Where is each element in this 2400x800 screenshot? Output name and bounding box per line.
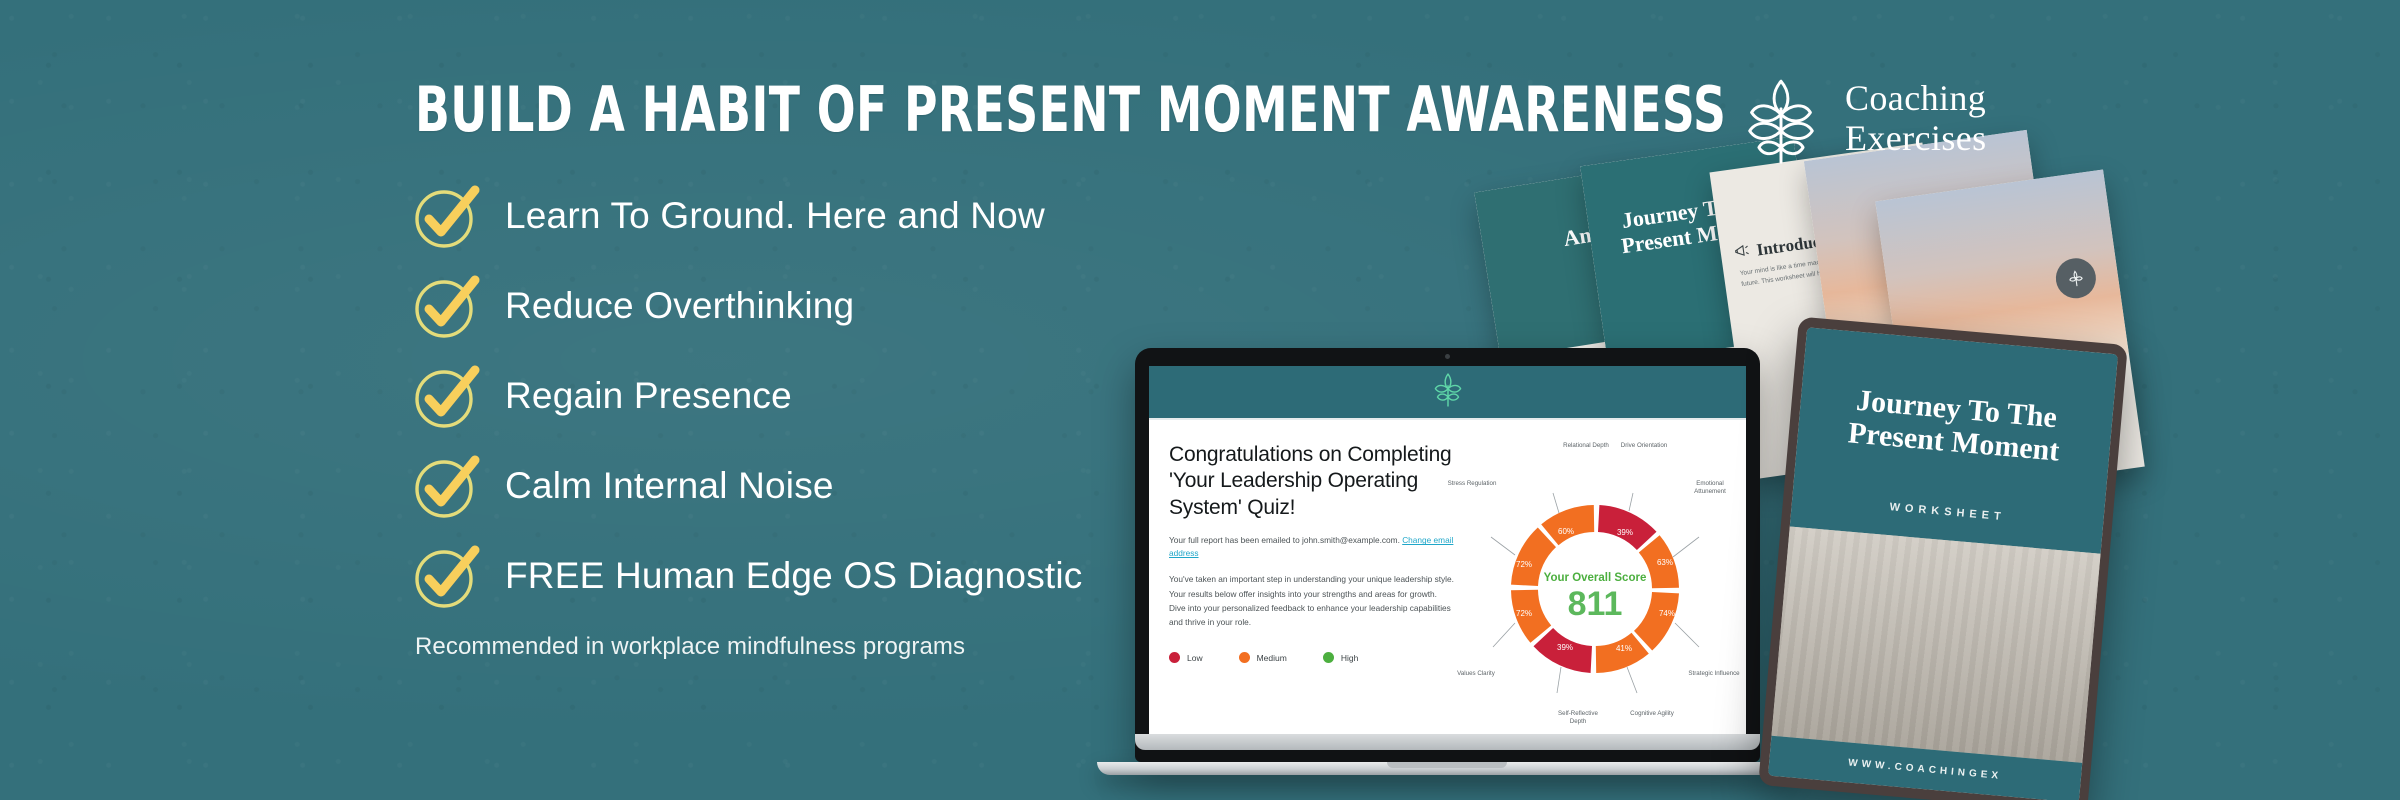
list-item-label: FREE Human Edge OS Diagnostic [505, 555, 1083, 597]
list-item: Regain Presence [415, 363, 1295, 429]
segment-label-drive-orientation: Drive Orientation [1616, 442, 1672, 450]
laptop-base [1097, 762, 1797, 775]
megaphone-icon [1734, 242, 1752, 263]
donut-segment-strategic-influence: 74% [1634, 592, 1679, 651]
segment-label-cognitive-agility: Cognitive Agility [1624, 710, 1680, 718]
results-chart-column: 39% 63% 74% [1464, 442, 1726, 720]
recommendation-note: Recommended in workplace mindfulness pro… [415, 633, 1295, 661]
lotus-icon [1735, 72, 1827, 164]
segment-label-relational-depth: Relational Depth [1558, 442, 1614, 450]
segment-value: 41% [1616, 644, 1632, 653]
check-circle-icon [415, 545, 477, 607]
check-circle-icon [415, 365, 477, 427]
page-title: BUILD A HABIT OF PRESENT MOMENT AWARENES… [415, 78, 1137, 141]
segment-value: 72% [1516, 609, 1532, 618]
webcam-icon [1445, 354, 1450, 359]
brand-line-1: Coaching [1845, 78, 1986, 118]
donut-segment-values-clarity: 72% [1511, 590, 1551, 643]
list-item-label: Regain Presence [505, 375, 792, 417]
check-circle-icon [415, 185, 477, 247]
segment-value: 63% [1657, 558, 1673, 567]
donut-chart: 39% 63% 74% [1464, 458, 1726, 720]
list-item-label: Calm Internal Noise [505, 465, 834, 507]
legend-item-high: High [1323, 652, 1358, 663]
segment-label-strategic-influence: Strategic Influence [1686, 670, 1742, 678]
laptop-lid-bottom [1135, 734, 1760, 750]
segment-label-stress-regulation: Stress Regulation [1444, 480, 1500, 488]
brand-name: Coaching Exercises [1845, 78, 1987, 159]
segment-value: 72% [1516, 560, 1532, 569]
brand-logo: Coaching Exercises [1735, 72, 1987, 164]
brand-line-2: Exercises [1845, 118, 1987, 158]
segment-value: 60% [1558, 527, 1574, 536]
donut-segment-drive-orientation: 39% [1598, 505, 1657, 550]
segment-label-emotional-attunement: Emotional Attunement [1682, 480, 1738, 496]
list-item-label: Learn To Ground. Here and Now [505, 195, 1045, 237]
list-item: Calm Internal Noise [415, 453, 1295, 519]
legend-label-high: High [1341, 653, 1358, 663]
tablet-mockup: Journey To The Present Moment WORKSHEET … [1758, 317, 2128, 800]
check-circle-icon [415, 275, 477, 337]
segment-value: 39% [1557, 643, 1573, 652]
donut-chart-svg: 39% 63% 74% [1464, 458, 1726, 720]
segment-label-self-reflective-depth: Self-Reflective Depth [1550, 710, 1606, 726]
worksheet-url: WWW.COACHINGEX [1848, 757, 2003, 781]
score-caption: Your Overall Score [1544, 572, 1647, 584]
legend-swatch-high [1323, 652, 1334, 663]
left-content-column: BUILD A HABIT OF PRESENT MOMENT AWARENES… [415, 78, 1295, 661]
segment-label-values-clarity: Values Clarity [1448, 670, 1504, 678]
tablet-frame: Journey To The Present Moment WORKSHEET … [1758, 317, 2128, 800]
donut-segment-cognitive-agility: 41% [1596, 633, 1649, 673]
tablet-screen: Journey To The Present Moment WORKSHEET … [1768, 327, 2118, 800]
list-item: FREE Human Edge OS Diagnostic [415, 543, 1295, 609]
segment-value: 74% [1659, 609, 1675, 618]
segment-value: 39% [1617, 528, 1633, 537]
donut-segment-relational-depth: 60% [1541, 505, 1594, 545]
donut-segment-self-reflective-depth: 39% [1534, 628, 1593, 673]
list-item: Learn To Ground. Here and Now [415, 183, 1295, 249]
banner-background: BUILD A HABIT OF PRESENT MOMENT AWARENES… [0, 0, 2400, 800]
worksheet-cover-photo [1771, 526, 2100, 762]
check-circle-icon [415, 455, 477, 517]
lotus-icon [1427, 369, 1469, 416]
score-value: 811 [1568, 585, 1623, 623]
list-item-label: Reduce Overthinking [505, 285, 854, 327]
list-item: Reduce Overthinking [415, 273, 1295, 339]
benefits-list: Learn To Ground. Here and Now Reduce Ove… [415, 183, 1295, 609]
